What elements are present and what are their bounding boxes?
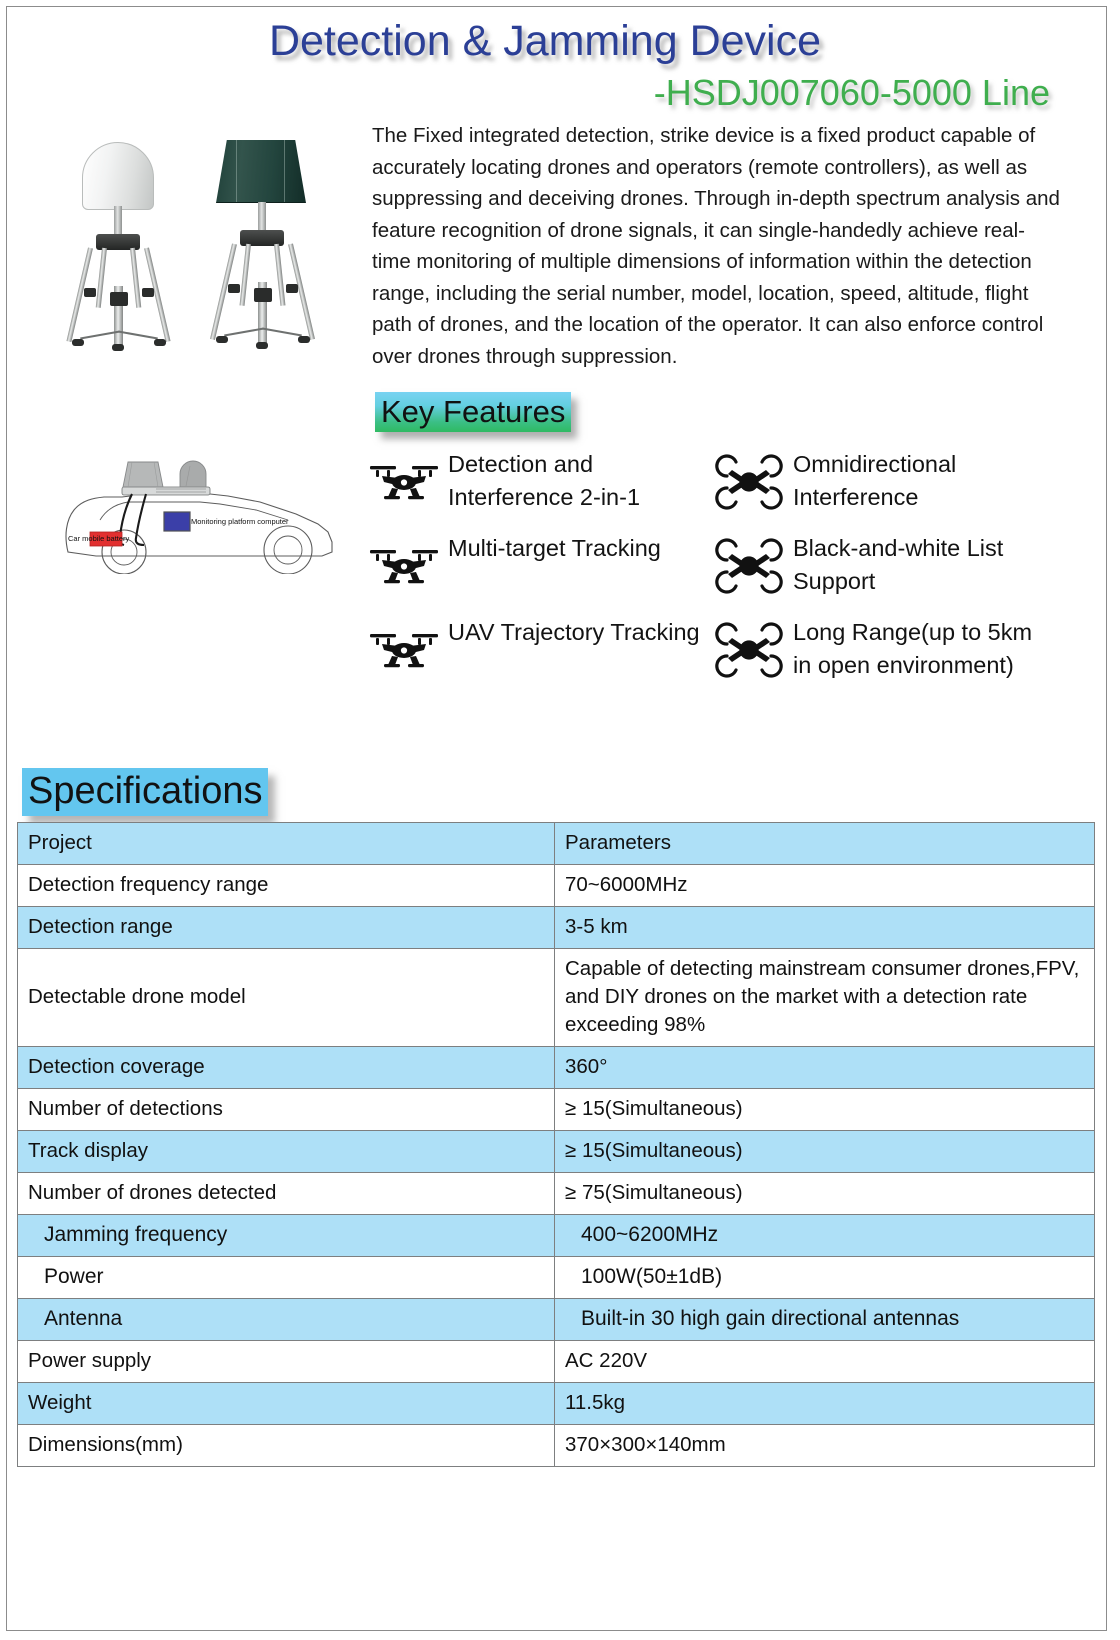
drone-top-icon	[713, 454, 785, 510]
drone-side-icon	[368, 454, 440, 510]
vehicle-outline-svg	[60, 424, 350, 574]
table-row: Detection coverage360°	[18, 1047, 1095, 1089]
vehicle-installation-diagram: Monitoring platform computer Car mobile …	[60, 424, 350, 574]
drone-top-icon	[713, 622, 785, 678]
cell-parameters: ≥ 15(Simultaneous)	[555, 1131, 1095, 1173]
white-dome-radome	[82, 142, 154, 210]
cell-parameters: 11.5kg	[555, 1383, 1095, 1425]
tripod-spreader	[118, 331, 158, 340]
feature-item: Black-and-white List Support	[713, 532, 1053, 602]
tripod-foot	[256, 342, 268, 349]
feature-label: Omnidirectional Interference	[793, 448, 1053, 514]
table-row: Power100W(50±1dB)	[18, 1257, 1095, 1299]
key-features-list: Detection and Interference 2-in-1	[368, 448, 1068, 708]
table-row: Detection frequency range70~6000MHz	[18, 865, 1095, 907]
specifications-table: ProjectParametersDetection frequency ran…	[17, 822, 1095, 1467]
cell-project: Track display	[18, 1131, 555, 1173]
product-datasheet-page: Detection & Jamming Device -HSDJ007060-5…	[0, 0, 1120, 1640]
cell-project: Detection coverage	[18, 1047, 555, 1089]
table-row: Number of detections≥ 15(Simultaneous)	[18, 1089, 1095, 1131]
column-header-parameters: Parameters	[555, 823, 1095, 865]
tripod-leg	[130, 248, 141, 308]
label-monitoring-computer: Monitoring platform computer	[191, 517, 289, 526]
table-row: Jamming frequency400~6200MHz	[18, 1215, 1095, 1257]
cell-project: Power supply	[18, 1341, 555, 1383]
cell-parameters: 100W(50±1dB)	[555, 1257, 1095, 1299]
label-car-battery: Car mobile battery	[68, 534, 129, 543]
key-features-heading: Key Features	[375, 392, 571, 432]
roof-dome-detector	[180, 461, 206, 487]
cell-project: Dimensions(mm)	[18, 1425, 555, 1467]
feature-item: Detection and Interference 2-in-1	[368, 448, 708, 518]
column-header-project: Project	[18, 823, 555, 865]
feature-item: Multi-target Tracking	[368, 532, 708, 602]
table-row: Track display≥ 15(Simultaneous)	[18, 1131, 1095, 1173]
feature-label: Long Range(up to 5km in open environment…	[793, 616, 1053, 682]
feature-label: Black-and-white List Support	[793, 532, 1053, 598]
page-title: Detection & Jamming Device	[0, 16, 1090, 66]
table-row: Weight11.5kg	[18, 1383, 1095, 1425]
monitoring-platform-computer	[164, 512, 190, 531]
table-header-row: ProjectParameters	[18, 823, 1095, 865]
table-row: AntennaBuilt-in 30 high gain directional…	[18, 1299, 1095, 1341]
tripod-leg	[240, 244, 251, 306]
cell-project: Detection frequency range	[18, 865, 555, 907]
table-row: Dimensions(mm)370×300×140mm	[18, 1425, 1095, 1467]
key-features-left-column: Detection and Interference 2-in-1	[368, 448, 708, 700]
tripod-device-green-radome	[200, 130, 320, 350]
cell-project: Jamming frequency	[18, 1215, 555, 1257]
feature-item: Omnidirectional Interference	[713, 448, 1053, 518]
roof-jammer-antenna	[123, 462, 163, 487]
feature-label: UAV Trajectory Tracking	[448, 616, 700, 649]
radome-seam	[236, 140, 237, 202]
cell-parameters: AC 220V	[555, 1341, 1095, 1383]
tripod-foot	[112, 344, 124, 351]
drone-top-icon	[713, 538, 785, 594]
cell-project: Number of detections	[18, 1089, 555, 1131]
leg-clamp	[142, 288, 154, 297]
tripod-leg	[96, 248, 107, 308]
feature-label: Multi-target Tracking	[448, 532, 661, 565]
feature-label: Detection and Interference 2-in-1	[448, 448, 708, 514]
tripod-foot	[72, 339, 84, 346]
product-description: The Fixed integrated detection, strike d…	[372, 120, 1062, 372]
cell-project: Detection range	[18, 907, 555, 949]
roof-mounting-rail	[122, 487, 210, 495]
cell-parameters: 3-5 km	[555, 907, 1095, 949]
specifications-heading: Specifications	[22, 768, 268, 816]
drone-side-icon	[368, 538, 440, 594]
leg-clamp	[84, 288, 96, 297]
cell-project: Power	[18, 1257, 555, 1299]
radome-seam	[284, 140, 285, 202]
feature-item: Long Range(up to 5km in open environment…	[713, 616, 1053, 686]
cell-project: Detectable drone model	[18, 949, 555, 1047]
cell-parameters: Built-in 30 high gain directional antenn…	[555, 1299, 1095, 1341]
cell-parameters: ≥ 75(Simultaneous)	[555, 1173, 1095, 1215]
product-photo-tripods	[52, 128, 352, 358]
table-row: Number of drones detected≥ 75(Simultaneo…	[18, 1173, 1095, 1215]
feature-item: UAV Trajectory Tracking	[368, 616, 708, 686]
tripod-spreader	[262, 328, 302, 337]
leg-clamp	[228, 284, 240, 293]
tripod-foot	[298, 336, 310, 343]
cell-parameters: 360°	[555, 1047, 1095, 1089]
leg-clamp	[286, 284, 298, 293]
green-radome	[216, 140, 306, 203]
cell-parameters: 370×300×140mm	[555, 1425, 1095, 1467]
tripod-device-white-dome	[58, 136, 178, 356]
leg-clamp	[254, 288, 272, 302]
tripod-foot	[154, 339, 166, 346]
specifications-table-body: ProjectParametersDetection frequency ran…	[18, 823, 1095, 1467]
tripod-foot	[216, 336, 228, 343]
drone-side-icon	[368, 622, 440, 678]
table-row: Detection range3-5 km	[18, 907, 1095, 949]
cell-project: Antenna	[18, 1299, 555, 1341]
cell-parameters: 70~6000MHz	[555, 865, 1095, 907]
table-row: Detectable drone modelCapable of detecti…	[18, 949, 1095, 1047]
model-number: -HSDJ007060-5000 Line	[654, 72, 1050, 114]
cell-parameters: 400~6200MHz	[555, 1215, 1095, 1257]
cell-project: Number of drones detected	[18, 1173, 555, 1215]
cell-project: Weight	[18, 1383, 555, 1425]
cell-parameters: ≥ 15(Simultaneous)	[555, 1089, 1095, 1131]
key-features-right-column: Omnidirectional Interference	[713, 448, 1053, 700]
leg-clamp	[110, 292, 128, 306]
table-row: Power supplyAC 220V	[18, 1341, 1095, 1383]
cell-parameters: Capable of detecting mainstream consumer…	[555, 949, 1095, 1047]
tripod-leg	[274, 244, 285, 306]
